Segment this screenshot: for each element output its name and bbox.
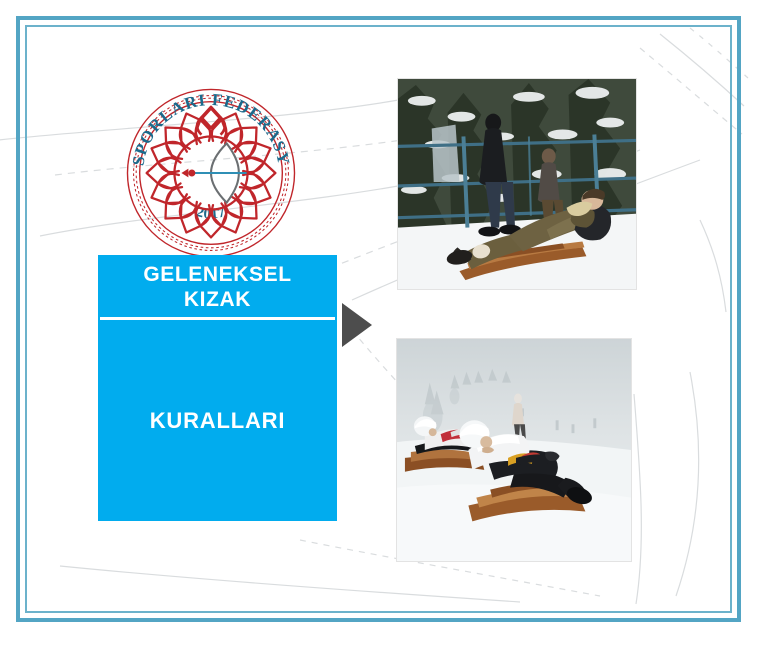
panel-title-line-2: KIZAK bbox=[184, 287, 251, 312]
title-panel-header: GELENEKSEL KIZAK bbox=[98, 255, 337, 317]
bow-and-arrow-icon bbox=[181, 143, 245, 202]
photo-sled-race bbox=[396, 338, 632, 562]
title-panel-body: KURALLARI bbox=[98, 320, 337, 521]
ata-sporlari-federasyonu-logo: ATA SPORLARI FEDERASYONU 2017 bbox=[124, 86, 298, 260]
photo-traditional-sledding bbox=[397, 78, 637, 290]
play-arrow-right-icon bbox=[342, 303, 372, 347]
title-panel: GELENEKSEL KIZAK KURALLARI bbox=[98, 255, 337, 521]
panel-title-line-1: GELENEKSEL bbox=[143, 262, 291, 287]
slide: ATA SPORLARI FEDERASYONU 2017 bbox=[0, 0, 759, 655]
panel-subtitle: KURALLARI bbox=[150, 408, 286, 433]
